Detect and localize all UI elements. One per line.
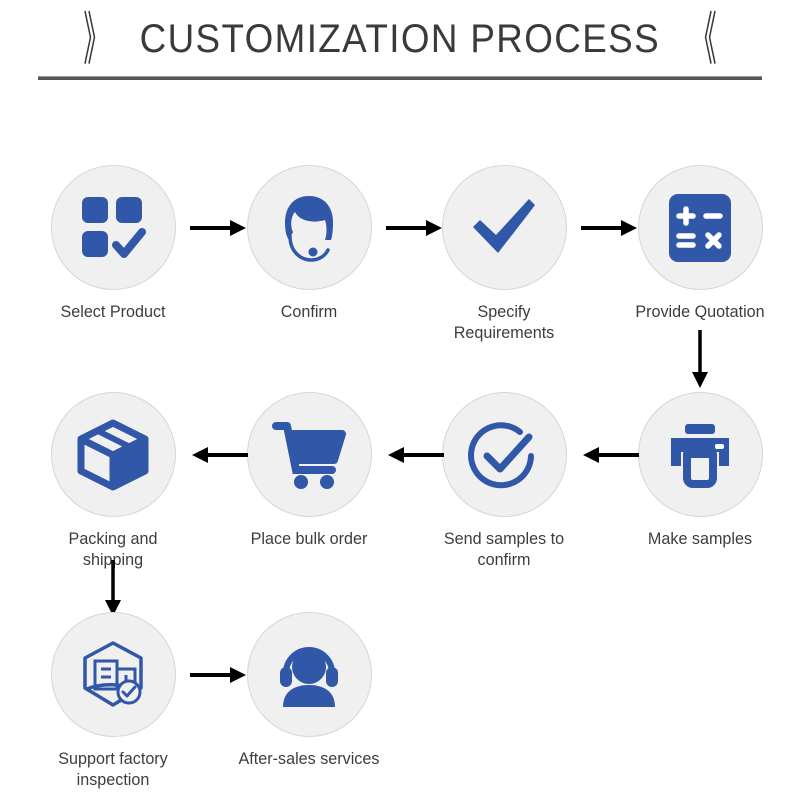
chevron-right-decoration: 《 <box>691 10 716 68</box>
step-label: Select Product <box>37 301 189 322</box>
step-icon-circle <box>247 392 372 517</box>
step-icon-circle <box>442 165 567 290</box>
arrow-row2-step4-to-step3 <box>581 445 639 465</box>
headset-agent-icon <box>273 192 345 264</box>
step-label: Support factory inspection <box>37 748 189 791</box>
process-step-after-sales-services[interactable]: After-sales services <box>229 612 389 769</box>
step-label: After-sales services <box>233 748 385 769</box>
factory-inspection-shield-icon <box>77 639 149 711</box>
arrow-row1-step3-to-step4 <box>581 218 639 238</box>
step-icon-circle <box>638 165 763 290</box>
header-divider <box>38 76 762 80</box>
step-label: Place bulk order <box>233 528 385 549</box>
step-icon-circle <box>51 165 176 290</box>
arrow-row3-step1-to-step2 <box>190 665 248 685</box>
printer-icon <box>663 422 737 488</box>
process-step-support-factory-inspection[interactable]: Support factory inspection <box>33 612 193 791</box>
step-label: Make samples <box>624 528 776 549</box>
grid-check-icon <box>78 193 148 263</box>
arrow-row2-step3-to-step2 <box>386 445 444 465</box>
step-label: Send samples to confirm <box>428 528 580 571</box>
circle-check-icon <box>467 418 541 492</box>
process-step-select-product[interactable]: Select Product <box>33 165 193 322</box>
step-label: Confirm <box>233 301 385 322</box>
process-step-provide-quotation[interactable]: Provide Quotation <box>620 165 780 322</box>
step-icon-circle <box>247 612 372 737</box>
arrow-row1-step1-to-step2 <box>190 218 248 238</box>
step-icon-circle <box>247 165 372 290</box>
process-step-make-samples[interactable]: Make samples <box>620 392 780 549</box>
checkmark-icon <box>467 191 541 265</box>
chevron-left-decoration: 》 <box>84 10 109 68</box>
step-label: Provide Quotation <box>624 301 776 322</box>
process-step-confirm[interactable]: Confirm <box>229 165 389 322</box>
calculator-icon <box>667 192 733 264</box>
support-person-headset-icon <box>272 641 346 709</box>
arrow-row2-to-row3 <box>103 560 123 618</box>
process-step-place-bulk-order[interactable]: Place bulk order <box>229 392 389 549</box>
step-icon-circle <box>51 392 176 517</box>
arrow-row1-step2-to-step3 <box>386 218 444 238</box>
step-icon-circle <box>638 392 763 517</box>
process-step-send-samples-to-confirm[interactable]: Send samples to confirm <box>424 392 584 571</box>
arrow-row2-step2-to-step1 <box>190 445 248 465</box>
step-icon-circle <box>442 392 567 517</box>
step-label: Specify Requirements <box>428 301 580 344</box>
process-step-packing-and-shipping[interactable]: Packing and shipping <box>33 392 193 571</box>
package-box-icon <box>76 419 150 491</box>
process-step-specify-requirements[interactable]: Specify Requirements <box>424 165 584 344</box>
arrow-row1-to-row2 <box>690 330 710 390</box>
shopping-cart-icon <box>272 420 346 490</box>
step-icon-circle <box>51 612 176 737</box>
page-title: CUSTOMIZATION PROCESS <box>140 17 660 62</box>
page-header: 》 CUSTOMIZATION PROCESS 《 <box>0 8 800 70</box>
